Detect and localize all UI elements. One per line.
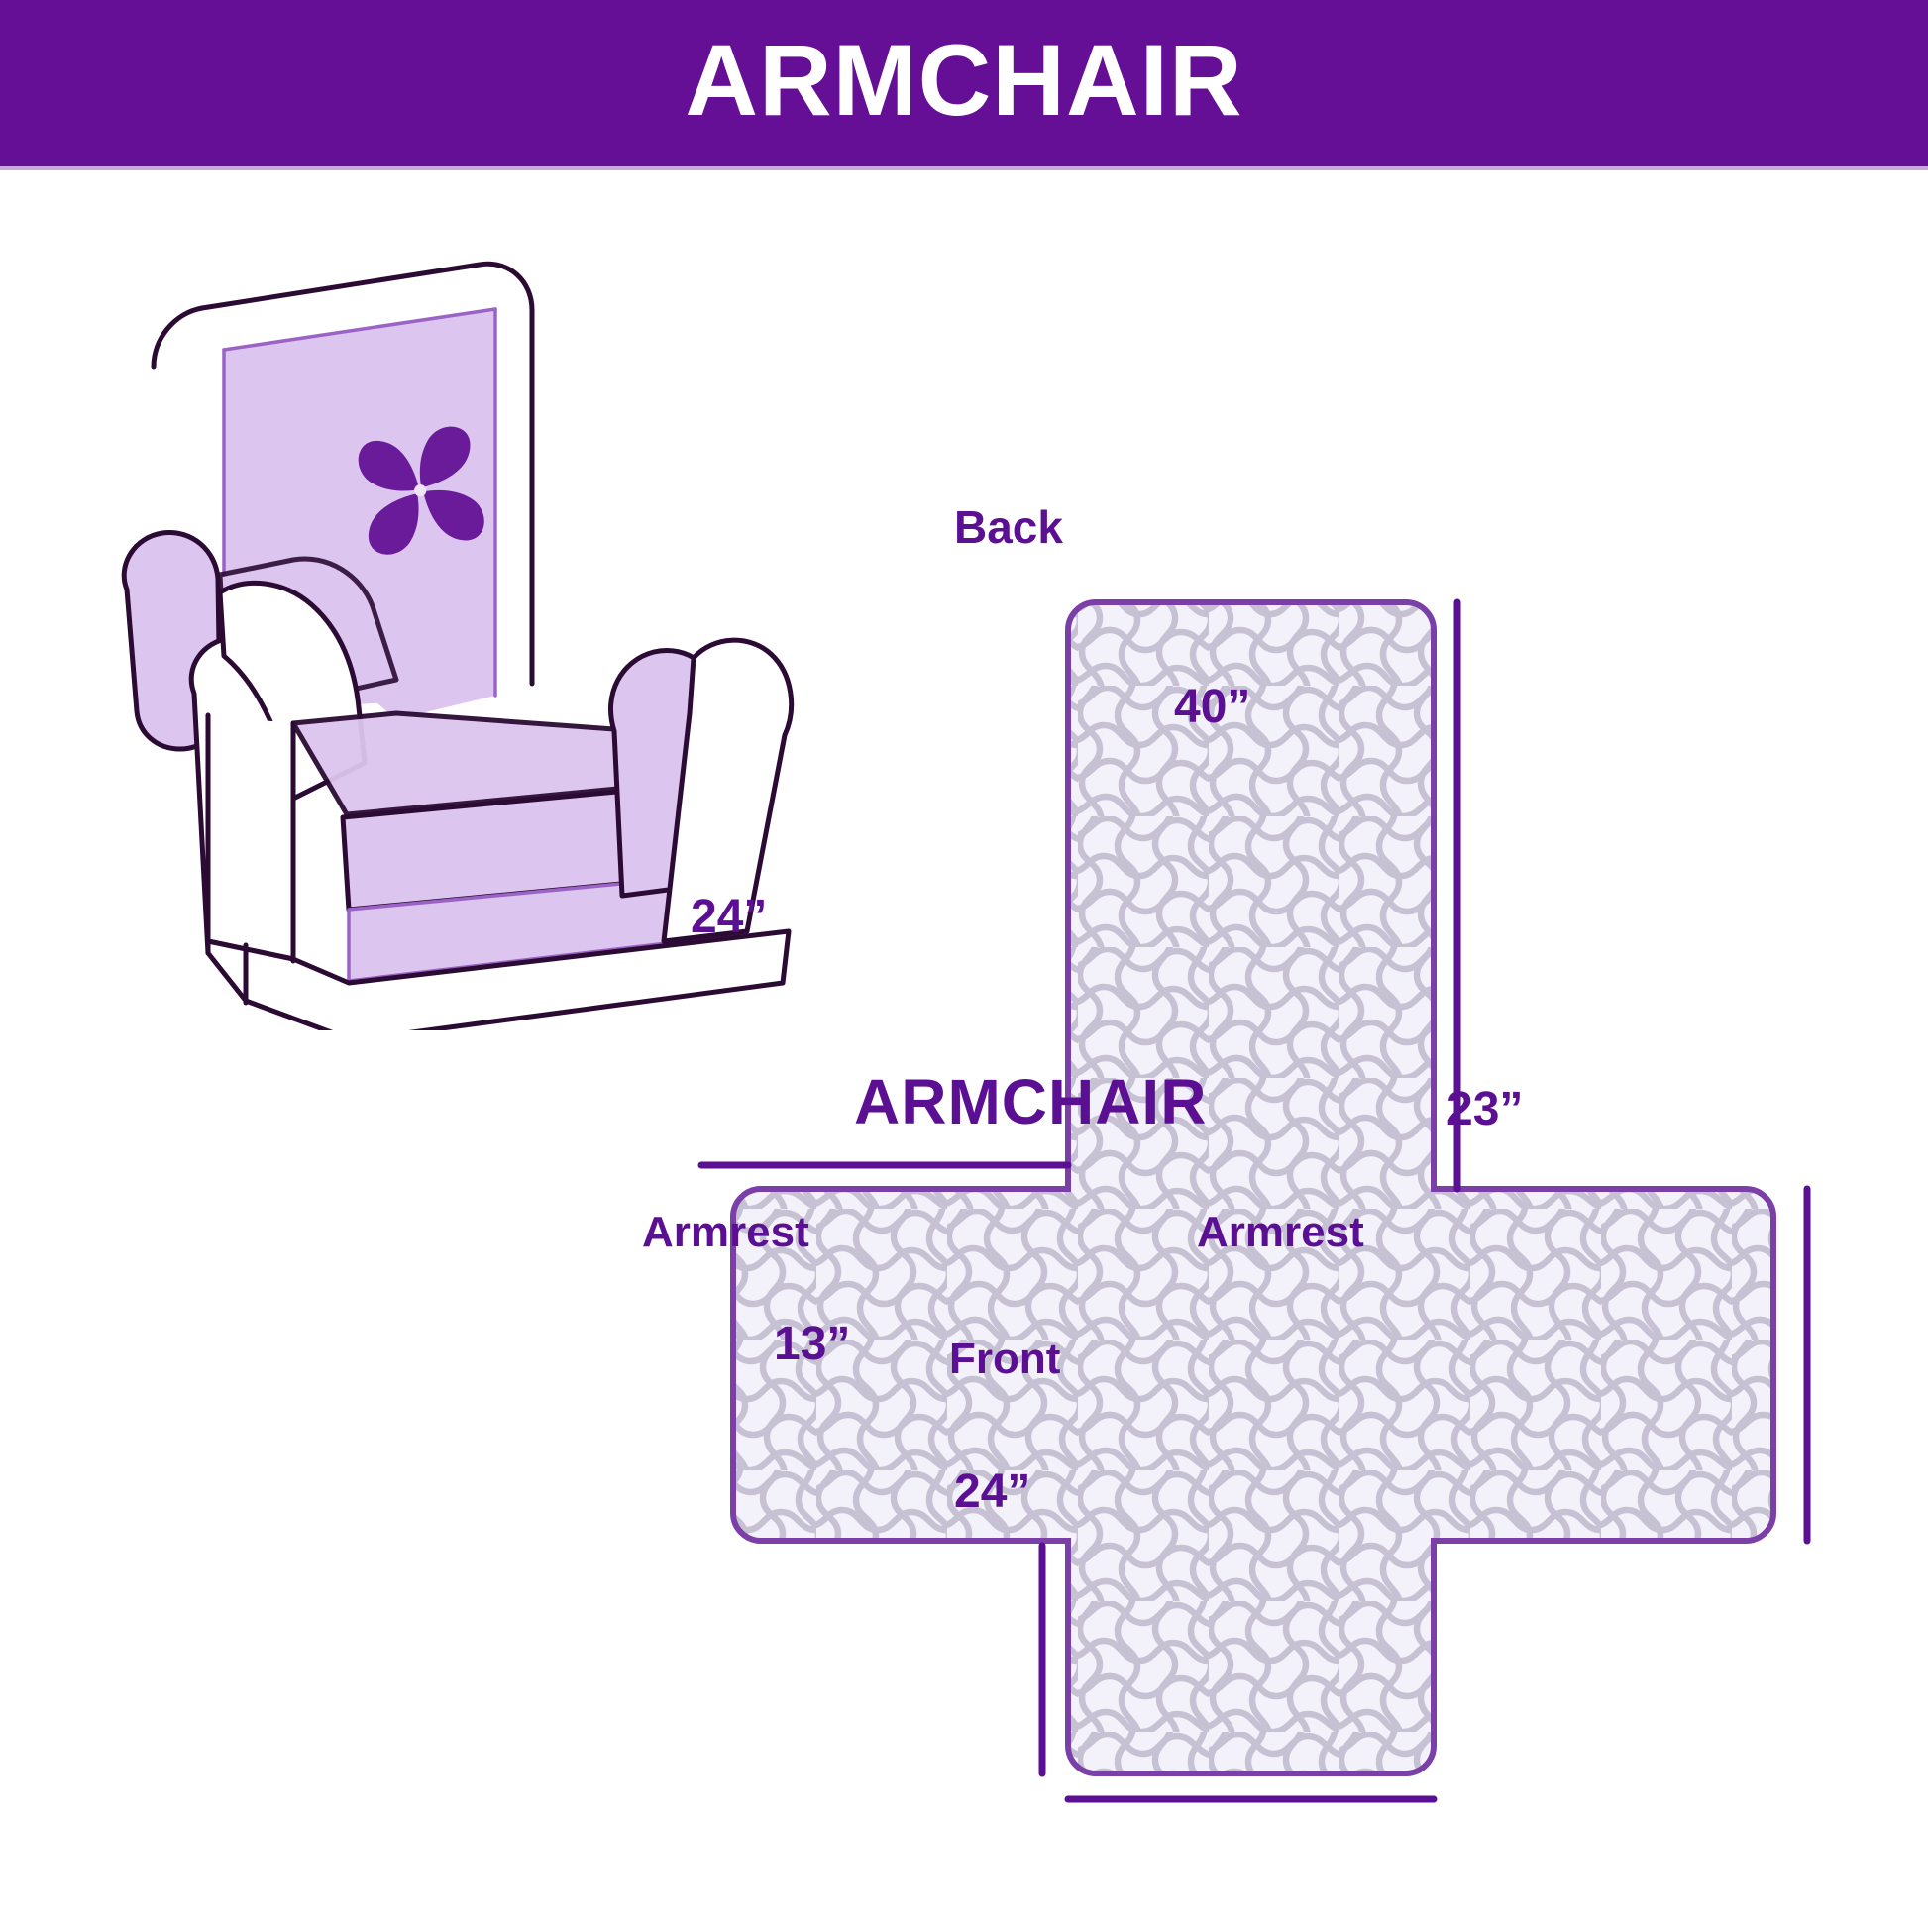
panel-label-armrest-right: Armrest: [1197, 1211, 1364, 1254]
dimension-label-back-width: 24”: [691, 894, 767, 941]
cover-cross-shape: [733, 602, 1773, 1773]
header-divider: [0, 166, 1928, 170]
panel-label-front: Front: [949, 1338, 1060, 1381]
dimension-label-front-height: 13”: [774, 1321, 850, 1368]
dimension-label-front-width: 24”: [954, 1468, 1030, 1516]
panel-label-armchair: ARMCHAIR: [854, 1070, 1207, 1133]
size-chart-page: ARMCHAIR .co{fill:none;stroke:#2B0B33;st…: [0, 0, 1928, 1928]
dimension-label-seat-depth: 23”: [1446, 1086, 1523, 1133]
header-band: ARMCHAIR: [0, 0, 1928, 168]
page-title: ARMCHAIR: [685, 30, 1242, 131]
dimension-label-back-height: 40”: [1174, 684, 1250, 731]
panel-label-back: Back: [954, 504, 1063, 550]
panel-label-armrest-left: Armrest: [642, 1211, 809, 1254]
